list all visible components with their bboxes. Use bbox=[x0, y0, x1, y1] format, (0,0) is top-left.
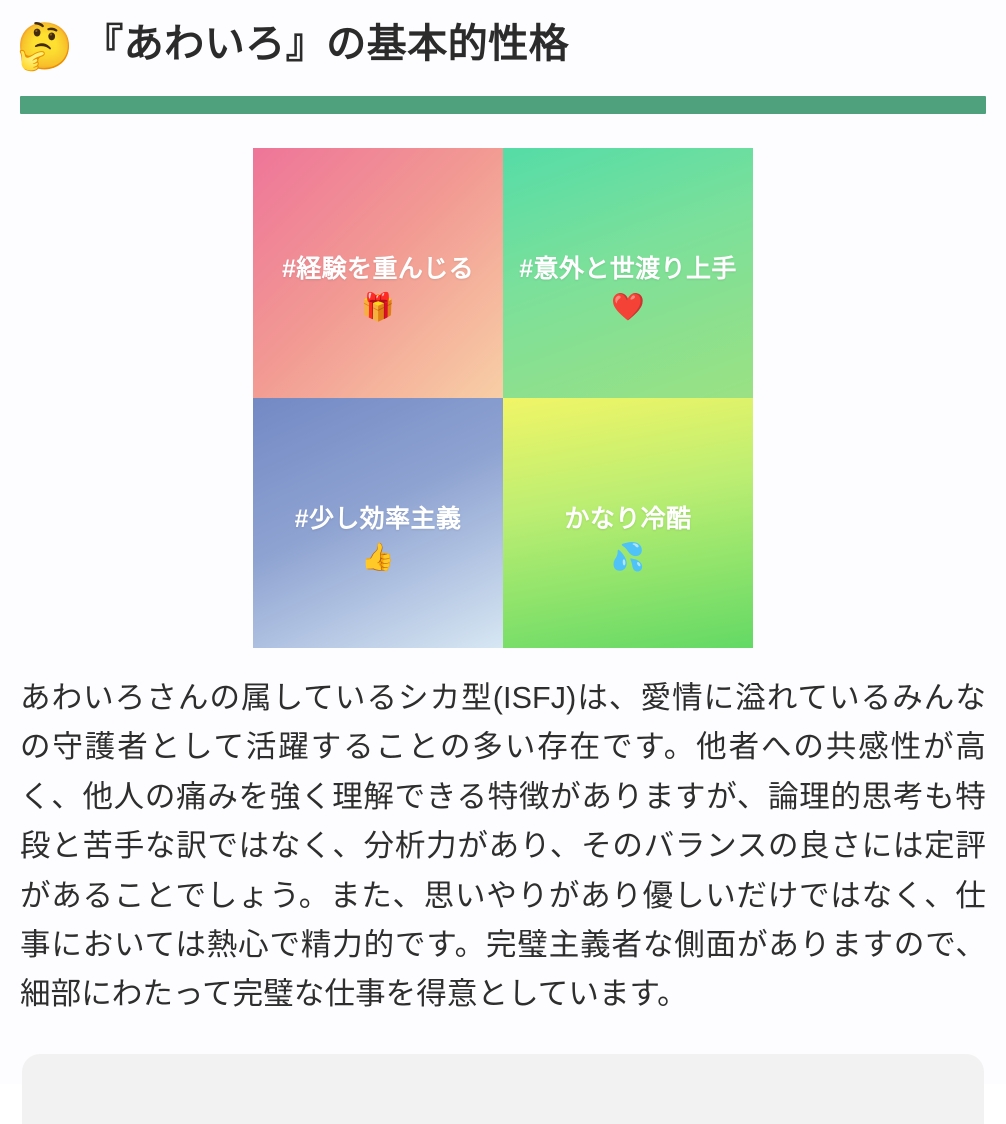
trait-quadrant-content: #意外と世渡り上手 ❤️ bbox=[519, 254, 737, 321]
wrapped-gift-icon: 🎁 bbox=[361, 294, 395, 321]
page-title: 『あわいろ』の基本的性格 bbox=[83, 22, 569, 66]
trait-quadrant-top-left[interactable]: #経験を重んじる 🎁 bbox=[253, 148, 503, 398]
accent-divider bbox=[20, 96, 986, 114]
trait-quadrant-top-right[interactable]: #意外と世渡り上手 ❤️ bbox=[503, 148, 753, 398]
sweat-droplets-icon: 💦 bbox=[611, 544, 645, 571]
thinking-face-icon: 🤔 bbox=[16, 23, 73, 69]
trait-label: #経験を重んじる bbox=[282, 254, 474, 284]
next-section-card[interactable] bbox=[22, 1054, 984, 1124]
trait-quadrant-content: #経験を重んじる 🎁 bbox=[282, 254, 474, 321]
trait-label: かなり冷酷 bbox=[564, 504, 691, 534]
trait-quadrant-content: かなり冷酷 💦 bbox=[564, 504, 691, 571]
red-heart-icon: ❤️ bbox=[611, 294, 645, 321]
trait-label: #少し効率主義 bbox=[295, 504, 462, 534]
result-page: 🤔 『あわいろ』の基本的性格 #経験を重んじる 🎁 #意外と世渡り上手 ❤️ #… bbox=[0, 0, 1006, 1084]
trait-grid-wrapper: #経験を重んじる 🎁 #意外と世渡り上手 ❤️ #少し効率主義 👍 かなり冷酷 bbox=[0, 148, 1006, 648]
personality-description: あわいろさんの属しているシカ型(ISFJ)は、愛情に溢れているみんなの守護者とし… bbox=[20, 674, 986, 1020]
page-header: 🤔 『あわいろ』の基本的性格 bbox=[0, 0, 1006, 70]
trait-quadrant-bottom-left[interactable]: #少し効率主義 👍 bbox=[253, 398, 503, 648]
trait-quadrant-grid: #経験を重んじる 🎁 #意外と世渡り上手 ❤️ #少し効率主義 👍 かなり冷酷 bbox=[253, 148, 753, 648]
thumbs-up-icon: 👍 bbox=[361, 544, 395, 571]
trait-quadrant-content: #少し効率主義 👍 bbox=[295, 504, 462, 571]
trait-label: #意外と世渡り上手 bbox=[519, 254, 737, 284]
trait-quadrant-bottom-right[interactable]: かなり冷酷 💦 bbox=[503, 398, 753, 648]
